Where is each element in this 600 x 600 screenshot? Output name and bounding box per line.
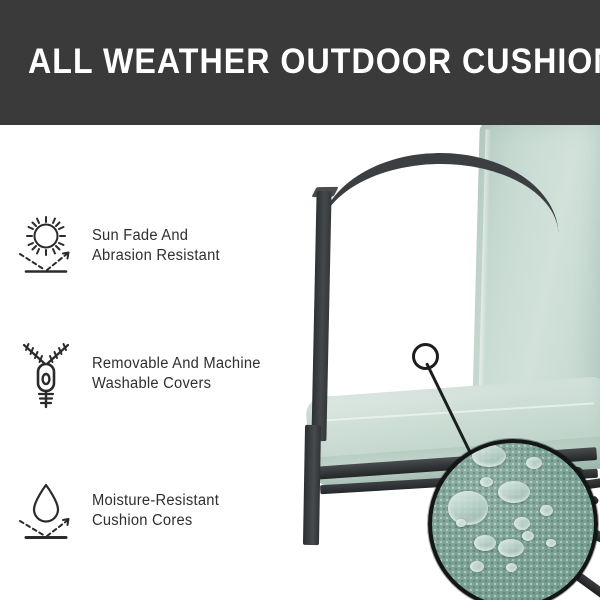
front-leg (303, 425, 321, 545)
feature-label: Sun Fade And Abrasion Resistant (92, 226, 220, 266)
feature-line-2: Abrasion Resistant (92, 246, 220, 266)
water-droplet (474, 535, 496, 551)
feature-label: Removable And Machine Washable Covers (92, 354, 261, 394)
water-droplet (498, 539, 524, 557)
feature-item-sun-fade: Sun Fade And Abrasion Resistant (0, 200, 300, 292)
water-droplet (470, 561, 484, 572)
zipper-icon (0, 331, 92, 417)
water-droplet (456, 519, 466, 527)
water-droplet (540, 505, 553, 516)
page-title: ALL WEATHER OUTDOOR CUSHIONS (28, 42, 600, 82)
water-droplet (506, 563, 517, 572)
water-droplet (480, 477, 493, 487)
feature-item-washable-covers: Removable And Machine Washable Covers (0, 328, 300, 420)
water-droplet (546, 539, 556, 547)
water-droplet (498, 481, 530, 503)
feature-item-moisture-resistant: Moisture-Resistant Cushion Cores (0, 465, 300, 557)
feature-line-2: Washable Covers (92, 374, 261, 394)
feature-line-1: Moisture-Resistant (92, 491, 219, 511)
feature-line-2: Cushion Cores (92, 511, 219, 531)
product-photo (300, 125, 600, 600)
feature-line-1: Sun Fade And (92, 226, 220, 246)
water-droplet (514, 517, 530, 530)
feature-line-1: Removable And Machine (92, 354, 261, 374)
water-droplet-repel-icon (0, 468, 92, 554)
callout-target-ring (412, 343, 439, 370)
product-feature-banner: ALL WEATHER OUTDOOR CUSHIONS (0, 0, 600, 600)
water-droplet (448, 491, 488, 525)
header-band: ALL WEATHER OUTDOOR CUSHIONS (0, 0, 600, 125)
water-droplet (472, 445, 506, 467)
water-droplet (522, 531, 534, 541)
feature-list: Sun Fade And Abrasion Resistant (0, 125, 300, 600)
water-droplet (526, 457, 542, 469)
feature-label: Moisture-Resistant Cushion Cores (92, 491, 219, 531)
sun-fade-icon (0, 203, 92, 289)
fabric-detail-magnifier (428, 439, 598, 600)
